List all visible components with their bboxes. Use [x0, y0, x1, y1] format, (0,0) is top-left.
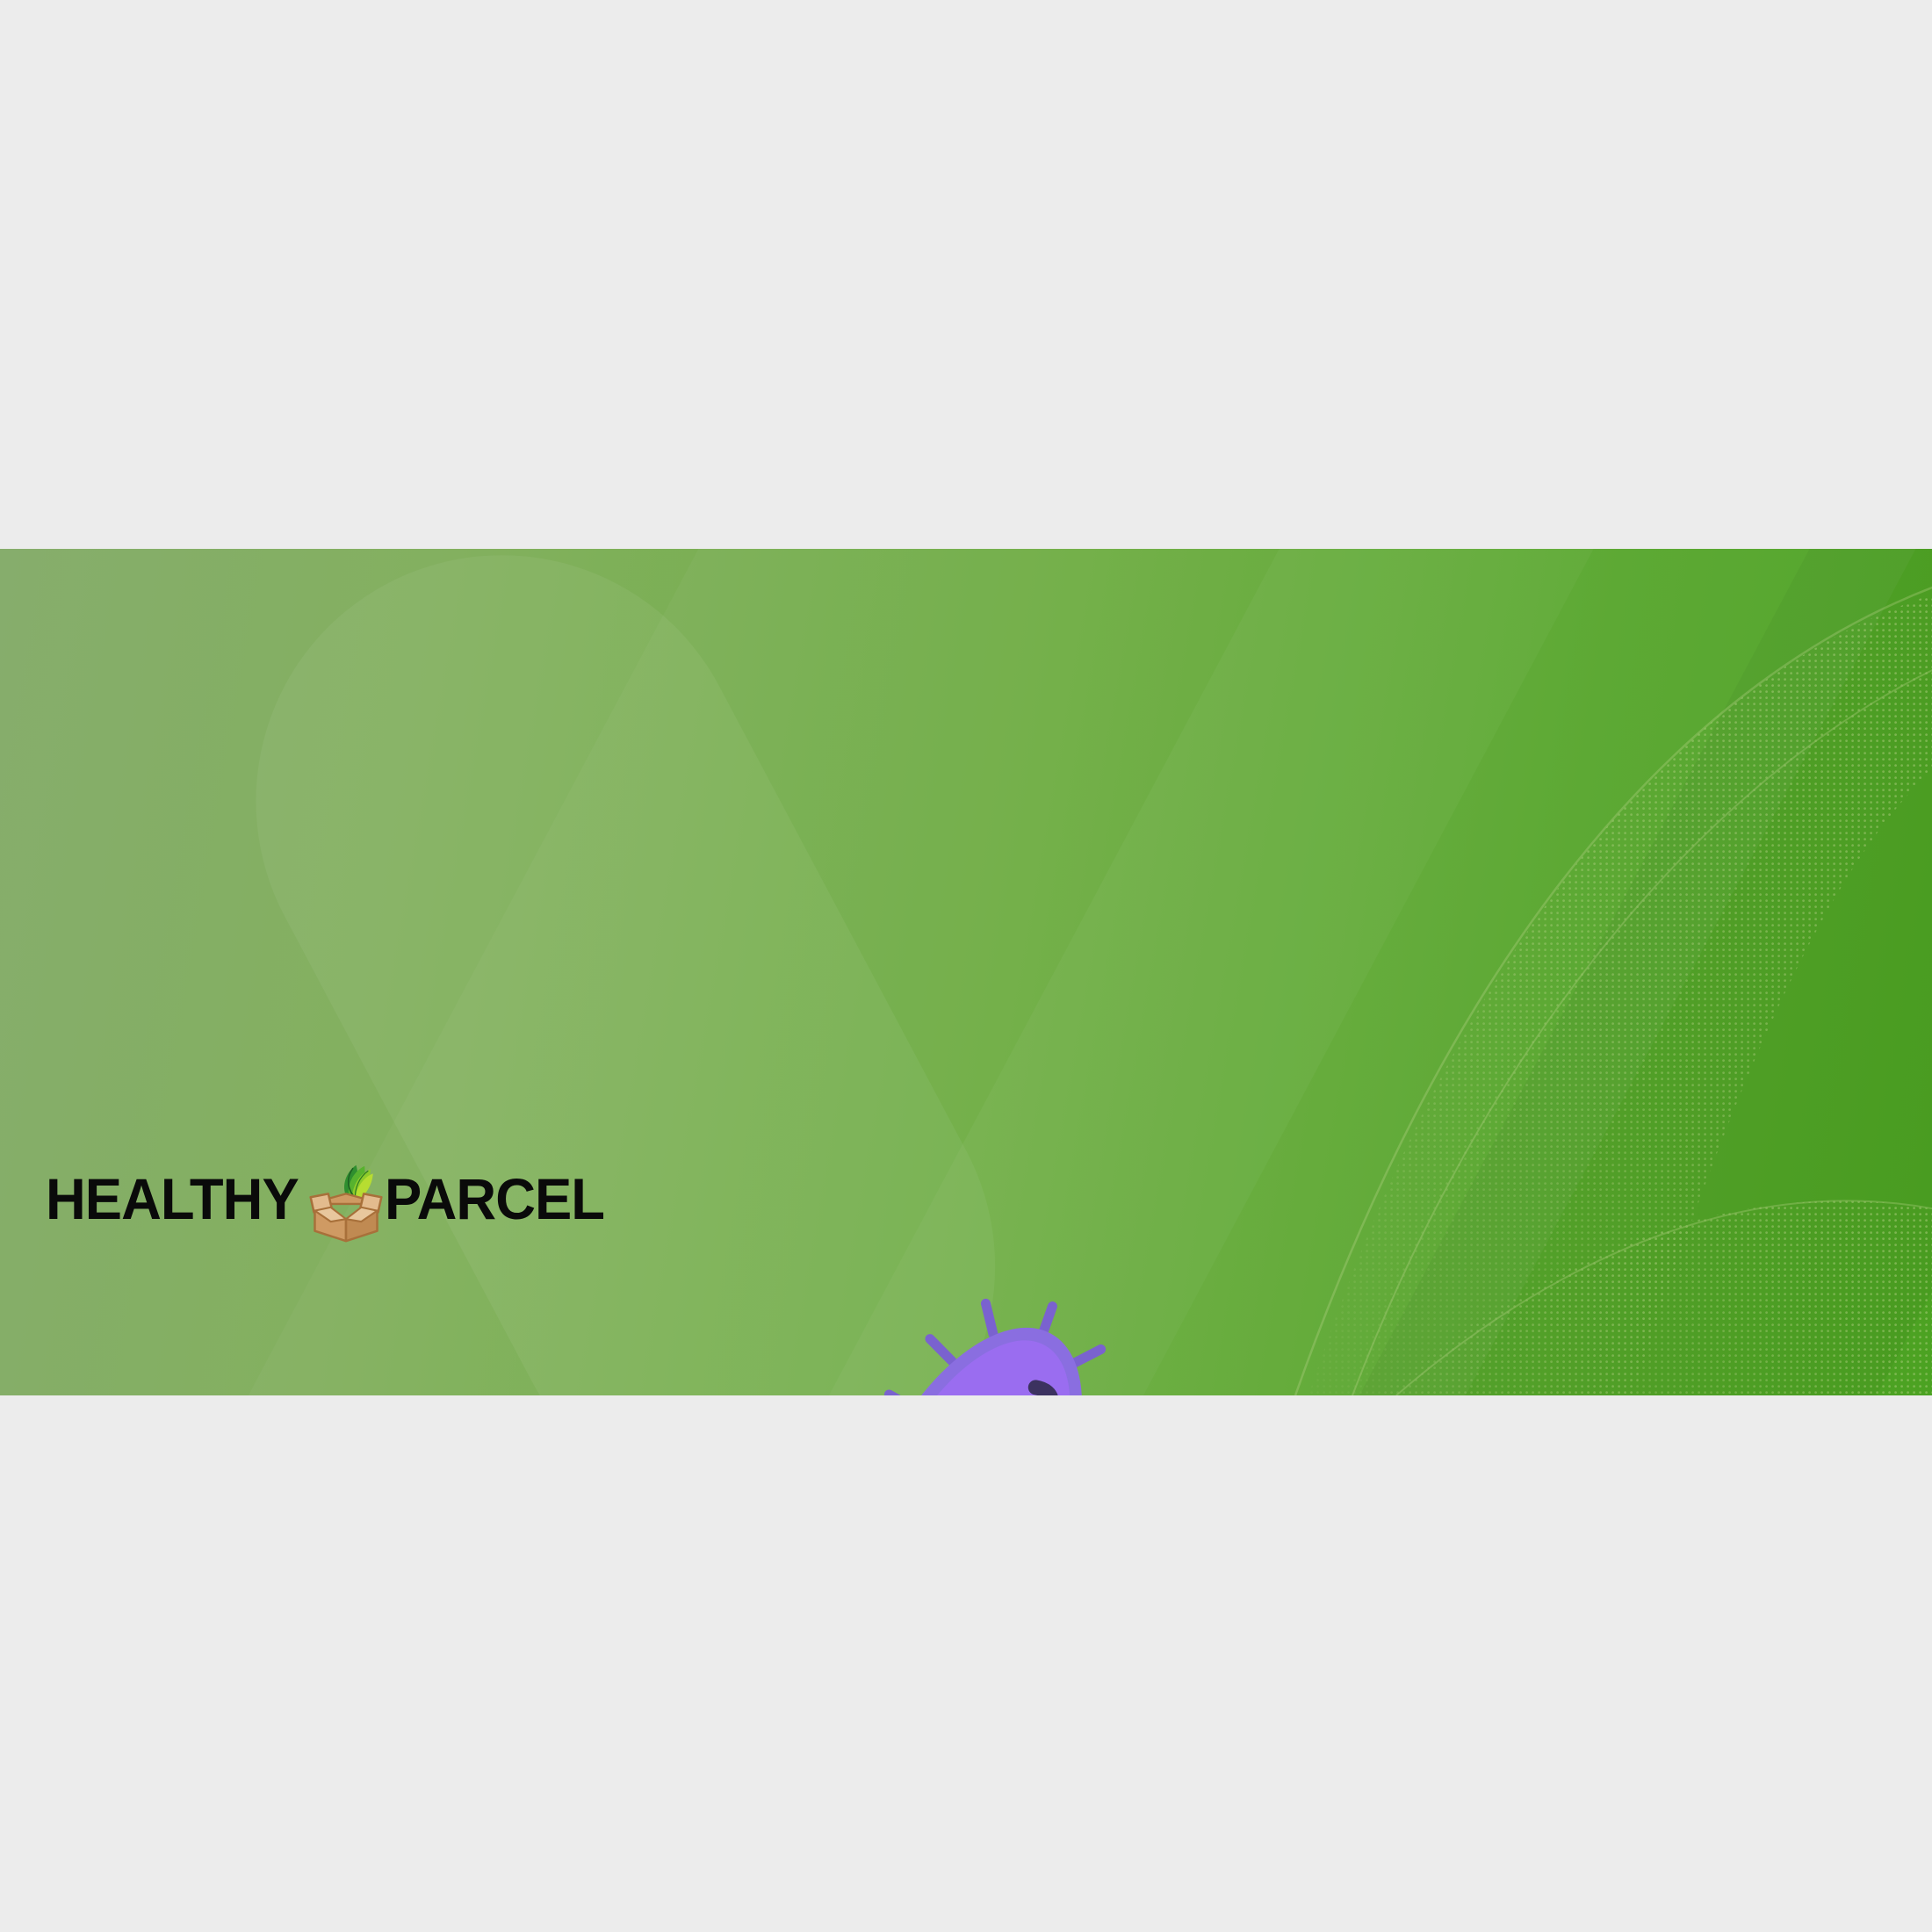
- page-root: HEALTHY: [0, 0, 1932, 1932]
- bacteria-cell-icon: [825, 1291, 1115, 1395]
- decorative-diagonal-band-a: [70, 549, 1634, 1395]
- logo-word-healthy: HEALTHY: [46, 1170, 299, 1228]
- site-logo[interactable]: HEALTHY: [46, 1164, 613, 1234]
- article-hero-banner: HEALTHY: [0, 549, 1932, 1395]
- open-parcel-box-with-leaves-icon: [304, 1160, 388, 1244]
- decorative-diagonal-band-c: [1139, 549, 1932, 1395]
- logo-word-parcel: PARCEL: [385, 1170, 604, 1228]
- decorative-dotted-mesh-wave: [1089, 549, 1932, 1395]
- decorative-light-blob: [169, 549, 1082, 1395]
- decorative-diagonal-band-b: [616, 549, 1932, 1395]
